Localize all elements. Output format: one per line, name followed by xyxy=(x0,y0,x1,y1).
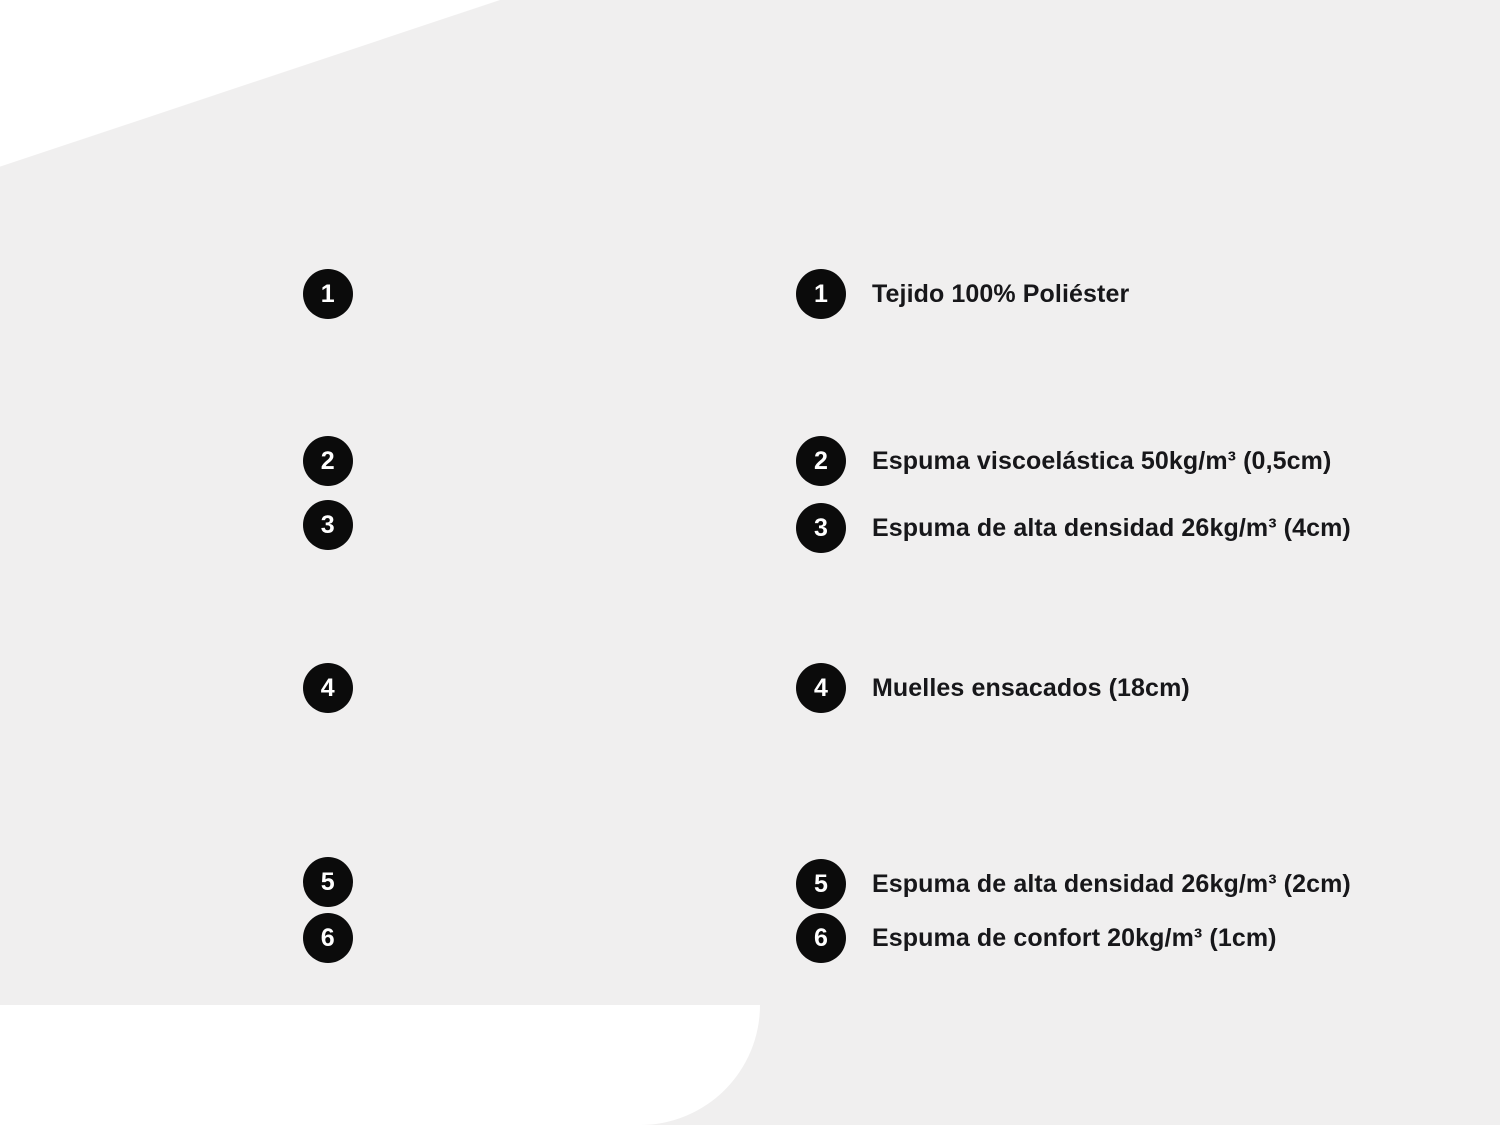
legend-badge-6: 6 xyxy=(796,913,846,963)
layer-1-cover-surface xyxy=(88,155,778,370)
legend-badge-5: 5 xyxy=(796,859,846,909)
image-badge-5: 5 xyxy=(303,857,353,907)
legend-item-1: 1 Tejido 100% Poliéster xyxy=(796,269,1129,319)
legend-label-2: Espuma viscoelástica 50kg/m³ (0,5cm) xyxy=(872,447,1331,476)
legend-item-6: 6 Espuma de confort 20kg/m³ (1cm) xyxy=(796,913,1277,963)
background-rounded-shape xyxy=(0,1005,760,1125)
legend-item-2: 2 Espuma viscoelástica 50kg/m³ (0,5cm) xyxy=(796,436,1331,486)
background-diagonal-shape xyxy=(0,0,530,170)
mattress-layers-infographic: 1 2 3 4 5 6 1 Tejido 100% Poliéster 2 Es… xyxy=(0,0,1500,1125)
pocket-spring xyxy=(578,561,645,844)
pocket-spring xyxy=(110,561,177,844)
legend-badge-3: 3 xyxy=(796,503,846,553)
image-badge-4: 4 xyxy=(303,663,353,713)
legend-label-6: Espuma de confort 20kg/m³ (1cm) xyxy=(872,924,1277,953)
layer-5-hd-foam xyxy=(110,844,778,906)
layer-4-pocket-springs xyxy=(110,556,778,846)
pocket-spring xyxy=(444,561,511,844)
pocket-spring xyxy=(177,561,244,844)
pocket-spring xyxy=(644,561,711,844)
legend-badge-4: 4 xyxy=(796,663,846,713)
legend-list: 1 Tejido 100% Poliéster 2 Espuma viscoel… xyxy=(796,0,1486,1125)
image-badge-1: 1 xyxy=(303,269,353,319)
legend-badge-1: 1 xyxy=(796,269,846,319)
layer-1-cover-piping xyxy=(86,352,778,374)
legend-label-5: Espuma de alta densidad 26kg/m³ (2cm) xyxy=(872,870,1351,899)
legend-label-4: Muelles ensacados (18cm) xyxy=(872,674,1190,703)
pocket-spring xyxy=(377,561,444,844)
legend-badge-2: 2 xyxy=(796,436,846,486)
legend-item-4: 4 Muelles ensacados (18cm) xyxy=(796,663,1190,713)
layer-2-visco-foam-side xyxy=(100,430,130,472)
image-badge-2: 2 xyxy=(303,436,353,486)
layer-1-cover-edge xyxy=(88,153,782,376)
pocket-spring xyxy=(244,561,311,844)
layer-3-hd-foam-side xyxy=(100,478,124,558)
image-badge-6: 6 xyxy=(303,913,353,963)
legend-item-3: 3 Espuma de alta densidad 26kg/m³ (4cm) xyxy=(796,503,1351,553)
legend-label-1: Tejido 100% Poliéster xyxy=(872,280,1129,309)
mattress-cutaway-illustration xyxy=(0,0,790,1125)
pocket-spring xyxy=(711,561,778,844)
image-badge-3: 3 xyxy=(303,500,353,550)
layer-2-visco-foam xyxy=(108,374,778,472)
layer-3-hd-foam xyxy=(118,466,778,558)
layer-6-comfort-foam xyxy=(100,904,778,960)
layer-6-comfort-foam-side xyxy=(86,912,106,960)
legend-item-5: 5 Espuma de alta densidad 26kg/m³ (2cm) xyxy=(796,859,1351,909)
layer-5-hd-foam-side xyxy=(94,852,116,906)
legend-label-3: Espuma de alta densidad 26kg/m³ (4cm) xyxy=(872,514,1351,543)
pocket-spring xyxy=(511,561,578,844)
